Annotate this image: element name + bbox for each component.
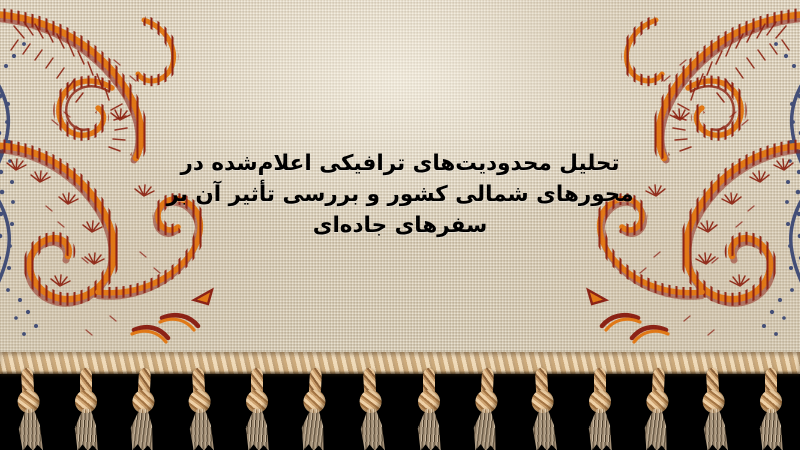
tassel (240, 368, 274, 450)
tassel-brush (72, 409, 100, 450)
tassel-brush (357, 408, 387, 450)
banner-title: تحلیل محدودیت‌های ترافیکی اعلام‌شده در م… (120, 148, 680, 241)
tassel-brush (470, 408, 500, 450)
tassel-brush (243, 409, 271, 450)
tassel (10, 367, 48, 450)
tassel-brush (641, 408, 671, 450)
tassel (181, 367, 219, 450)
tassel-brush (15, 408, 45, 450)
tassel-brush (700, 408, 730, 450)
tassel-brush (186, 408, 216, 450)
tassel (754, 368, 788, 450)
knotted-tassel-fringe (0, 368, 800, 450)
tassel (583, 368, 617, 450)
tassel (124, 367, 162, 450)
tassel (695, 367, 733, 450)
tassel (295, 367, 333, 450)
tassel (412, 368, 446, 450)
tassel (467, 367, 505, 450)
banner-image: تحلیل محدودیت‌های ترافیکی اعلام‌شده در م… (0, 0, 800, 450)
title-line-2: محورهای شمالی کشور و بررسی تأثیر آن بر (120, 179, 680, 210)
tassel-brush (757, 409, 785, 450)
tassel-brush (529, 408, 559, 450)
tassel (69, 368, 103, 450)
tassel (524, 367, 562, 450)
tassel-brush (298, 408, 328, 450)
tassel-brush (415, 409, 443, 450)
title-line-3: سفرهای جاده‌ای (120, 210, 680, 241)
title-line-1: تحلیل محدودیت‌های ترافیکی اعلام‌شده در (120, 148, 680, 179)
tassel-brush (127, 408, 157, 450)
tassel (638, 367, 676, 450)
tassel (352, 367, 390, 450)
tassel-brush (586, 409, 614, 450)
